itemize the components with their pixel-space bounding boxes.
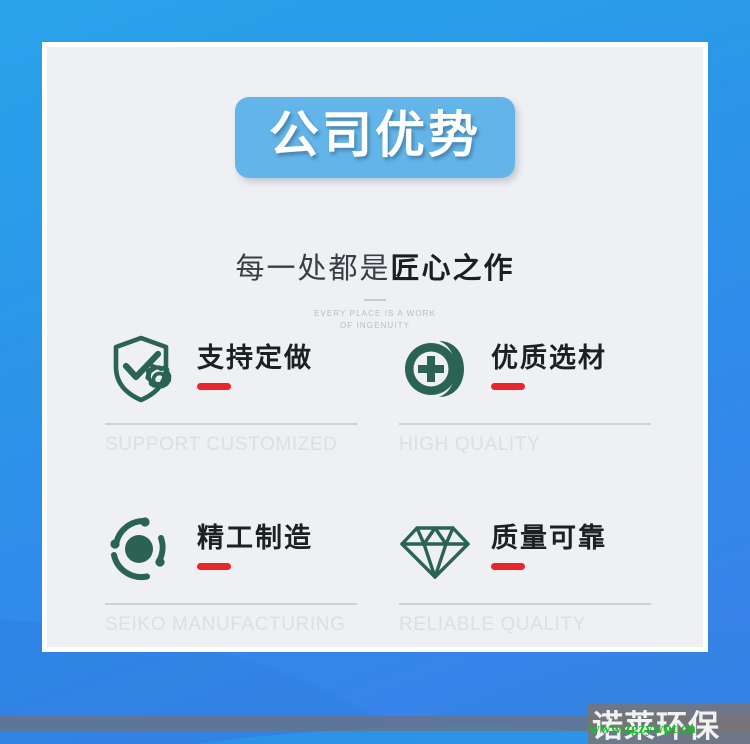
- feature-item-reliable-quality: 质量可靠 RELIABLE QUALITY: [393, 499, 665, 679]
- feature-accent-dash: [197, 383, 231, 390]
- feature-row: 支持定做: [99, 319, 371, 419]
- feature-accent-dash: [491, 383, 525, 390]
- coin-stack-plus-icon: [393, 327, 477, 411]
- watermark-url: www.zgzywpt.cn: [589, 721, 696, 738]
- feature-accent-dash: [491, 563, 525, 570]
- diamond-icon: [393, 507, 477, 591]
- promo-poster: 公司优势 每一处都是匠心之作 EVERY PLACE IS A WORK OF …: [0, 0, 750, 744]
- feature-grid: 支持定做 SUPPORT CUSTOMIZED: [99, 319, 665, 679]
- feature-text: 质量可靠: [477, 524, 607, 575]
- feature-accent-dash: [197, 563, 231, 570]
- content-panel: 公司优势 每一处都是匠心之作 EVERY PLACE IS A WORK OF …: [42, 42, 708, 652]
- feature-row: 优质选材: [393, 319, 665, 419]
- title-badge: 公司优势: [235, 97, 515, 178]
- feature-title: 质量可靠: [491, 524, 607, 554]
- feature-divider: [399, 423, 651, 425]
- feature-title: 精工制造: [197, 524, 313, 554]
- badge-container: 公司优势: [47, 97, 703, 178]
- feature-divider: [399, 603, 651, 605]
- feature-subtitle: HIGH QUALITY: [399, 434, 665, 456]
- feature-text: 精工制造: [183, 524, 313, 575]
- subheading-chinese-bold: 匠心之作: [391, 253, 515, 285]
- subheading-divider: [364, 299, 386, 301]
- feature-item-support-customized: 支持定做 SUPPORT CUSTOMIZED: [99, 319, 371, 499]
- feature-subtitle: SUPPORT CUSTOMIZED: [105, 434, 371, 456]
- feature-subtitle: SEIKO MANUFACTURING: [105, 614, 371, 636]
- feature-item-high-quality: 优质选材 HIGH QUALITY: [393, 319, 665, 499]
- feature-text: 优质选材: [477, 344, 607, 395]
- subheading-chinese: 每一处都是匠心之作: [47, 245, 703, 287]
- subheading-chinese-thin: 每一处都是: [235, 253, 390, 285]
- feature-row: 质量可靠: [393, 499, 665, 599]
- watermark: 诺莱环保 www.zgzywpt.cn: [588, 703, 750, 744]
- feature-item-seiko-manufacturing: 精工制造 SEIKO MANUFACTURING: [99, 499, 371, 679]
- page-title: 公司优势: [269, 109, 481, 162]
- feature-title: 优质选材: [491, 344, 607, 374]
- feature-title: 支持定做: [197, 344, 313, 374]
- feature-row: 精工制造: [99, 499, 371, 599]
- feature-subtitle: RELIABLE QUALITY: [399, 614, 665, 636]
- shield-check-gear-icon: [99, 327, 183, 411]
- feature-text: 支持定做: [183, 344, 313, 395]
- feature-divider: [105, 423, 357, 425]
- feature-divider: [105, 603, 357, 605]
- orbit-atom-icon: [99, 507, 183, 591]
